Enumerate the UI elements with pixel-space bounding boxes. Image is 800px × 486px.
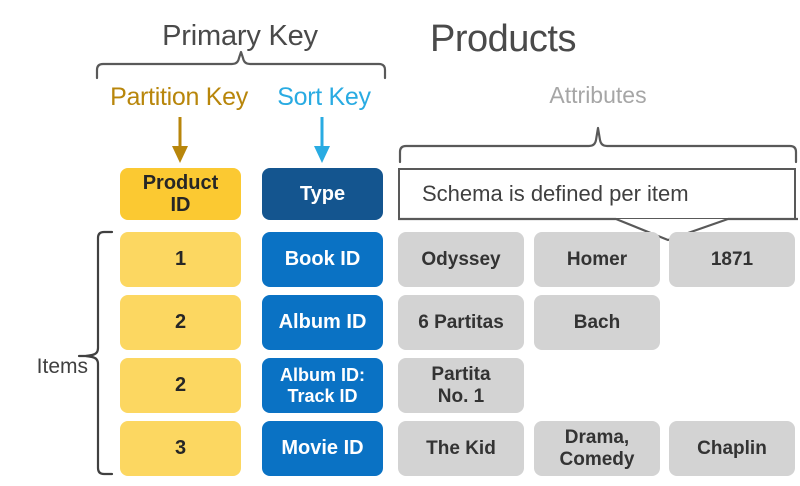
partition-key-arrow-icon (172, 117, 188, 163)
items-brace-icon (86, 232, 112, 474)
cell-attribute: Drama,Comedy (534, 421, 660, 476)
cell-product-id: 1 (120, 232, 241, 287)
cell-attribute: The Kid (398, 421, 524, 476)
cell-type: Album ID:Track ID (262, 358, 383, 413)
cell-attribute: Odyssey (398, 232, 524, 287)
cell-type: Book ID (262, 232, 383, 287)
header-cell-sort-key: Type (262, 168, 383, 220)
cell-product-id: 2 (120, 358, 241, 413)
attributes-brace-icon (400, 128, 796, 162)
cell-type: Movie ID (262, 421, 383, 476)
sort-key-arrow-icon (314, 117, 330, 163)
cell-attribute: Chaplin (669, 421, 795, 476)
partition-key-label: Partition Key (96, 83, 262, 112)
dynamodb-table-diagram: Primary Key Products Partition Key Sort … (0, 0, 800, 486)
schema-callout: Schema is defined per item (398, 168, 796, 220)
cell-type: Album ID (262, 295, 383, 350)
sort-key-label: Sort Key (262, 83, 386, 112)
header-cell-partition-key: ProductID (120, 168, 241, 220)
primary-key-label: Primary Key (95, 20, 385, 53)
cell-product-id: 3 (120, 421, 241, 476)
page-title: Products (400, 18, 800, 61)
primary-key-brace-icon (97, 52, 385, 78)
cell-attribute: PartitaNo. 1 (398, 358, 524, 413)
cell-attribute: Homer (534, 232, 660, 287)
cell-attribute: 6 Partitas (398, 295, 524, 350)
cell-attribute: Bach (534, 295, 660, 350)
attributes-label: Attributes (400, 82, 796, 109)
cell-attribute: 1871 (669, 232, 795, 287)
cell-product-id: 2 (120, 295, 241, 350)
items-label: Items (8, 355, 88, 379)
